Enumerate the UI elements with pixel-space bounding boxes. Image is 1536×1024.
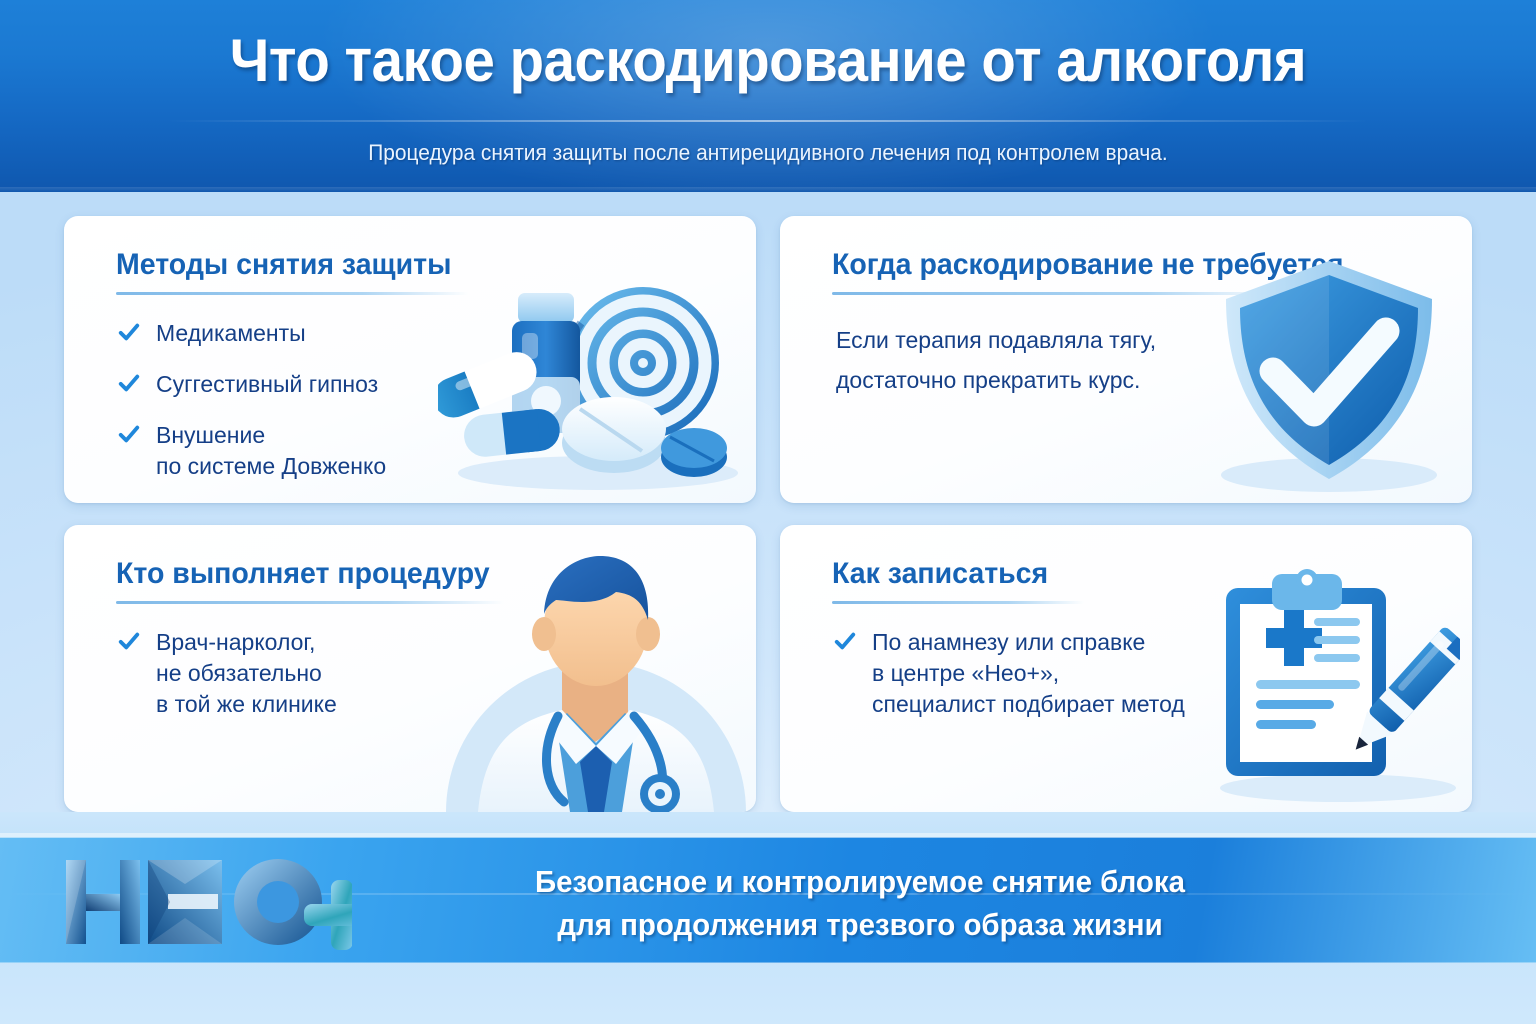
page-subtitle: Процедура снятия защиты после антирециди…	[38, 140, 1497, 166]
footer-tagline-line-2: для продолжения трезвого образа жизни	[385, 903, 1335, 946]
card-methods-bullets: Медикаменты Суггестивный гипноз Внушение…	[116, 318, 496, 502]
card-how-to-book-divider	[832, 601, 1084, 604]
header-banner: Что такое раскодирование от алкоголя Про…	[0, 0, 1536, 192]
card-methods-title: Методы снятия защиты	[116, 248, 451, 282]
card-how-to-book: Как записаться По анамнезу или справке в…	[780, 525, 1472, 812]
card-who-performs-title: Кто выполняет процедуру	[116, 557, 490, 591]
text-line-1: Если терапия подавляла тягу,	[836, 327, 1156, 353]
check-icon	[834, 630, 856, 652]
list-item: Медикаменты	[116, 318, 496, 349]
footer-tagline-line-1: Безопасное и контролируемое снятие блока	[385, 860, 1335, 903]
list-item: По анамнезу или справке в центре «Нео+»,…	[832, 627, 1212, 720]
footer: Безопасное и контролируемое снятие блока…	[0, 812, 1536, 1024]
list-item-label-2: не обязательно	[156, 658, 496, 689]
card-when-not-needed-title: Когда раскодирование не требуется	[832, 248, 1343, 282]
page-title: Что такое раскодирование от алкоголя	[46, 26, 1490, 95]
check-icon	[118, 423, 140, 445]
check-icon	[118, 321, 140, 343]
list-item-label: Врач-нарколог,	[156, 629, 315, 655]
card-who-performs: Кто выполняет процедуру Врач-нарколог, н…	[64, 525, 756, 812]
list-item-label-3: в той же клинике	[156, 689, 496, 720]
card-how-to-book-bullets: По анамнезу или справке в центре «Нео+»,…	[832, 627, 1212, 740]
check-icon	[118, 372, 140, 394]
card-methods-divider	[116, 292, 468, 295]
card-grid: Методы снятия защиты Медикаменты Суггест…	[64, 216, 1472, 812]
card-when-not-needed-divider	[832, 292, 1282, 295]
card-who-performs-divider	[116, 601, 504, 604]
list-item: Суггестивный гипноз	[116, 369, 496, 400]
list-item-label-3: специалист подбирает метод	[872, 689, 1212, 720]
list-item-label: Медикаменты	[156, 320, 306, 346]
list-item: Врач-нарколог, не обязательно в той же к…	[116, 627, 496, 720]
card-methods: Методы снятия защиты Медикаменты Суггест…	[64, 216, 756, 503]
check-icon	[118, 630, 140, 652]
shield-check-icon	[1204, 247, 1454, 497]
card-when-not-needed: Когда раскодирование не требуется Если т…	[780, 216, 1472, 503]
list-item-label: Внушение	[156, 422, 265, 448]
title-divider	[168, 120, 1368, 122]
card-who-performs-bullets: Врач-нарколог, не обязательно в той же к…	[116, 627, 496, 740]
list-item-label: Суггестивный гипноз	[156, 371, 378, 397]
clipboard-pen-icon	[1198, 566, 1460, 802]
card-how-to-book-title: Как записаться	[832, 557, 1048, 591]
card-when-not-needed-text: Если терапия подавляла тягу, достаточно …	[836, 320, 1236, 400]
list-item-label-2: по системе Довженко	[156, 451, 496, 482]
footer-tagline: Безопасное и контролируемое снятие блока…	[385, 860, 1335, 946]
infographic-poster: Что такое раскодирование от алкоголя Про…	[0, 0, 1536, 1024]
list-item-label-2: в центре «Нео+»,	[872, 658, 1212, 689]
list-item: Внушение по системе Довженко	[116, 420, 496, 482]
text-line-2: достаточно прекратить курс.	[836, 367, 1140, 393]
list-item-label: По анамнезу или справке	[872, 629, 1145, 655]
neo-plus-logo	[62, 854, 352, 950]
